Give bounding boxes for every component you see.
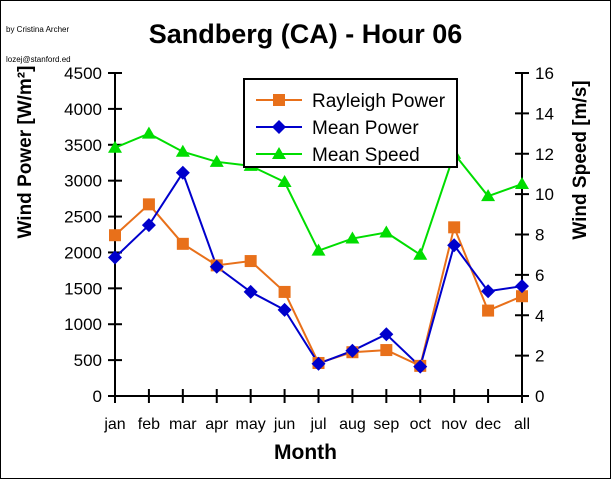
y-tick-label-left: 1000: [64, 315, 102, 334]
x-tick-label: all: [514, 416, 530, 433]
y-tick-label-right: 8: [535, 226, 544, 245]
y-tick-label-left: 1500: [64, 279, 102, 298]
series-line-rayleigh-power: [115, 204, 522, 366]
data-point-mean-power: [176, 166, 190, 180]
chart-figure: by Cristina Archer lozej@stanford.ed San…: [0, 0, 611, 479]
data-point-rayleigh-power: [177, 238, 189, 250]
x-tick-label: feb: [138, 416, 160, 433]
data-point-rayleigh-power: [380, 344, 392, 356]
data-point-mean-speed: [413, 248, 427, 260]
y-tick-label-left: 2000: [64, 243, 102, 262]
data-point-mean-speed: [515, 177, 529, 189]
y-tick-label-left: 2500: [64, 208, 102, 227]
x-tick-label: jan: [103, 416, 125, 433]
data-point-mean-speed: [176, 145, 190, 157]
x-tick-label: jun: [273, 416, 295, 433]
y-tick-label-right: 6: [535, 266, 544, 285]
data-point-rayleigh-power: [482, 305, 494, 317]
data-point-mean-speed: [379, 225, 393, 237]
y-tick-label-right: 2: [535, 347, 544, 366]
x-tick-label: sep: [373, 416, 399, 433]
y-tick-label-left: 4000: [64, 100, 102, 119]
data-point-rayleigh-power: [279, 286, 291, 298]
chart-legend: Rayleigh PowerMean PowerMean Speed: [244, 79, 457, 167]
x-tick-label: dec: [475, 416, 501, 433]
data-point-mean-power: [278, 303, 292, 317]
x-tick-label: may: [236, 416, 266, 433]
x-tick-label: oct: [410, 416, 432, 433]
x-tick-label: nov: [441, 416, 467, 433]
y-tick-label-right: 12: [535, 145, 554, 164]
y-tick-label-right: 0: [535, 387, 544, 406]
y-tick-label-right: 4: [535, 306, 544, 325]
data-point-mean-speed: [278, 175, 292, 187]
legend-label: Mean Power: [312, 118, 419, 139]
x-tick-label: jul: [309, 416, 326, 433]
y-tick-label-left: 0: [93, 387, 102, 406]
y-tick-label-right: 14: [535, 104, 554, 123]
plot-area: 0500100015002000250030003500400045000246…: [1, 1, 610, 478]
series-line-mean-power: [115, 173, 522, 367]
legend-label: Mean Speed: [312, 145, 420, 166]
x-tick-label: apr: [205, 416, 229, 433]
data-point-rayleigh-power: [245, 255, 257, 267]
y-tick-label-left: 4500: [64, 64, 102, 83]
legend-marker-square: [273, 94, 285, 106]
legend-label: Rayleigh Power: [312, 91, 446, 112]
y-tick-label-left: 3500: [64, 136, 102, 155]
data-point-mean-power: [244, 285, 258, 299]
y-tick-label-left: 3000: [64, 172, 102, 191]
x-tick-label: mar: [169, 416, 197, 433]
y-tick-label-right: 16: [535, 64, 554, 83]
x-tick-label: aug: [339, 416, 366, 433]
data-point-rayleigh-power: [109, 229, 121, 241]
data-point-mean-speed: [142, 127, 156, 139]
y-tick-label-left: 500: [74, 351, 102, 370]
data-point-rayleigh-power: [448, 221, 460, 233]
data-point-rayleigh-power: [143, 198, 155, 210]
y-tick-label-right: 10: [535, 185, 554, 204]
